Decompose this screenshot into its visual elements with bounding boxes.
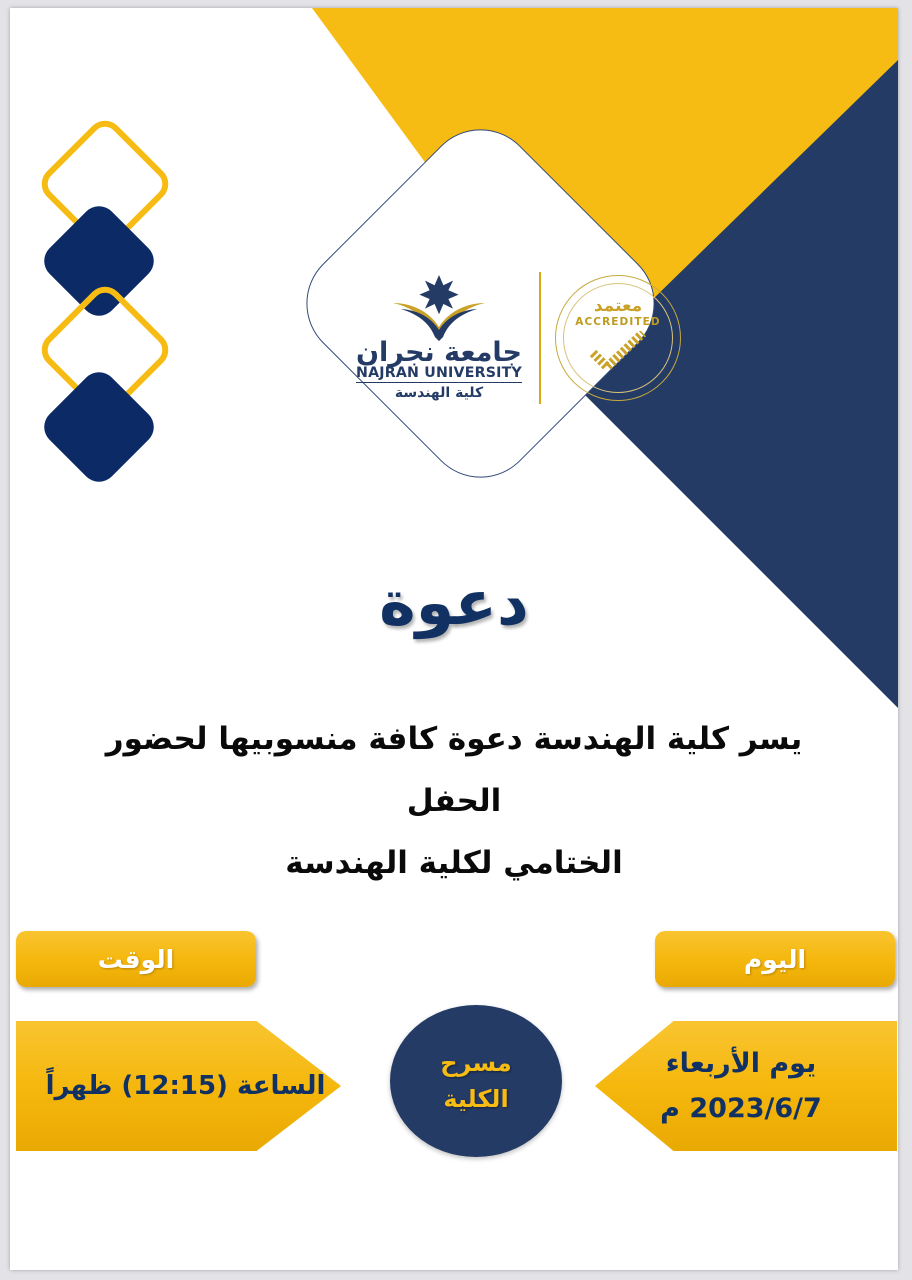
- day-value-arrow: يوم الأربعاء 2023/6/7 م: [595, 1021, 897, 1151]
- accreditation-seal: معتمد ACCREDITED: [555, 275, 681, 401]
- day-date: 2023/6/7 م: [660, 1093, 822, 1124]
- page-title: دعوة: [10, 566, 898, 639]
- invitation-body-line-1: يسر كلية الهندسة دعوة كافة منسوبيها لحضو…: [74, 708, 834, 832]
- open-book-icon: [387, 275, 491, 341]
- logo-group: جامعة نجران NAJRAN UNIVERSITY كلية الهند…: [332, 258, 702, 418]
- time-value-arrow: الساعة (12:15) ظهراً: [16, 1021, 341, 1151]
- university-name-english: NAJRAN UNIVERSITY: [356, 366, 522, 383]
- venue-line-2: الكلية: [443, 1085, 508, 1113]
- vertical-divider-icon: [539, 272, 541, 404]
- accreditation-label-english: ACCREDITED: [575, 317, 660, 328]
- faculty-name-arabic: كلية الهندسة: [395, 385, 483, 401]
- diamond-solid-bottom: [37, 365, 161, 489]
- invitation-body: يسر كلية الهندسة دعوة كافة منسوبيها لحضو…: [74, 708, 834, 894]
- university-name-arabic: جامعة نجران: [356, 339, 522, 366]
- time-label: الوقت: [16, 931, 256, 987]
- screenshot-canvas: جامعة نجران NAJRAN UNIVERSITY كلية الهند…: [0, 0, 912, 1280]
- accreditation-label-arabic: معتمد: [594, 298, 642, 315]
- eight-point-star-icon: [419, 275, 458, 314]
- checkmark-icon: [587, 331, 649, 371]
- time-value: الساعة (12:15) ظهراً: [46, 1071, 326, 1101]
- invitation-page: جامعة نجران NAJRAN UNIVERSITY كلية الهند…: [10, 8, 898, 1270]
- najran-university-logo: جامعة نجران NAJRAN UNIVERSITY كلية الهند…: [353, 275, 525, 401]
- venue-line-1: مسرح: [440, 1049, 512, 1077]
- venue-badge: مسرح الكلية: [390, 1005, 562, 1157]
- day-label: اليوم: [655, 931, 895, 987]
- invitation-body-line-2: الختامي لكلية الهندسة: [74, 832, 834, 894]
- day-name: يوم الأربعاء: [666, 1048, 816, 1079]
